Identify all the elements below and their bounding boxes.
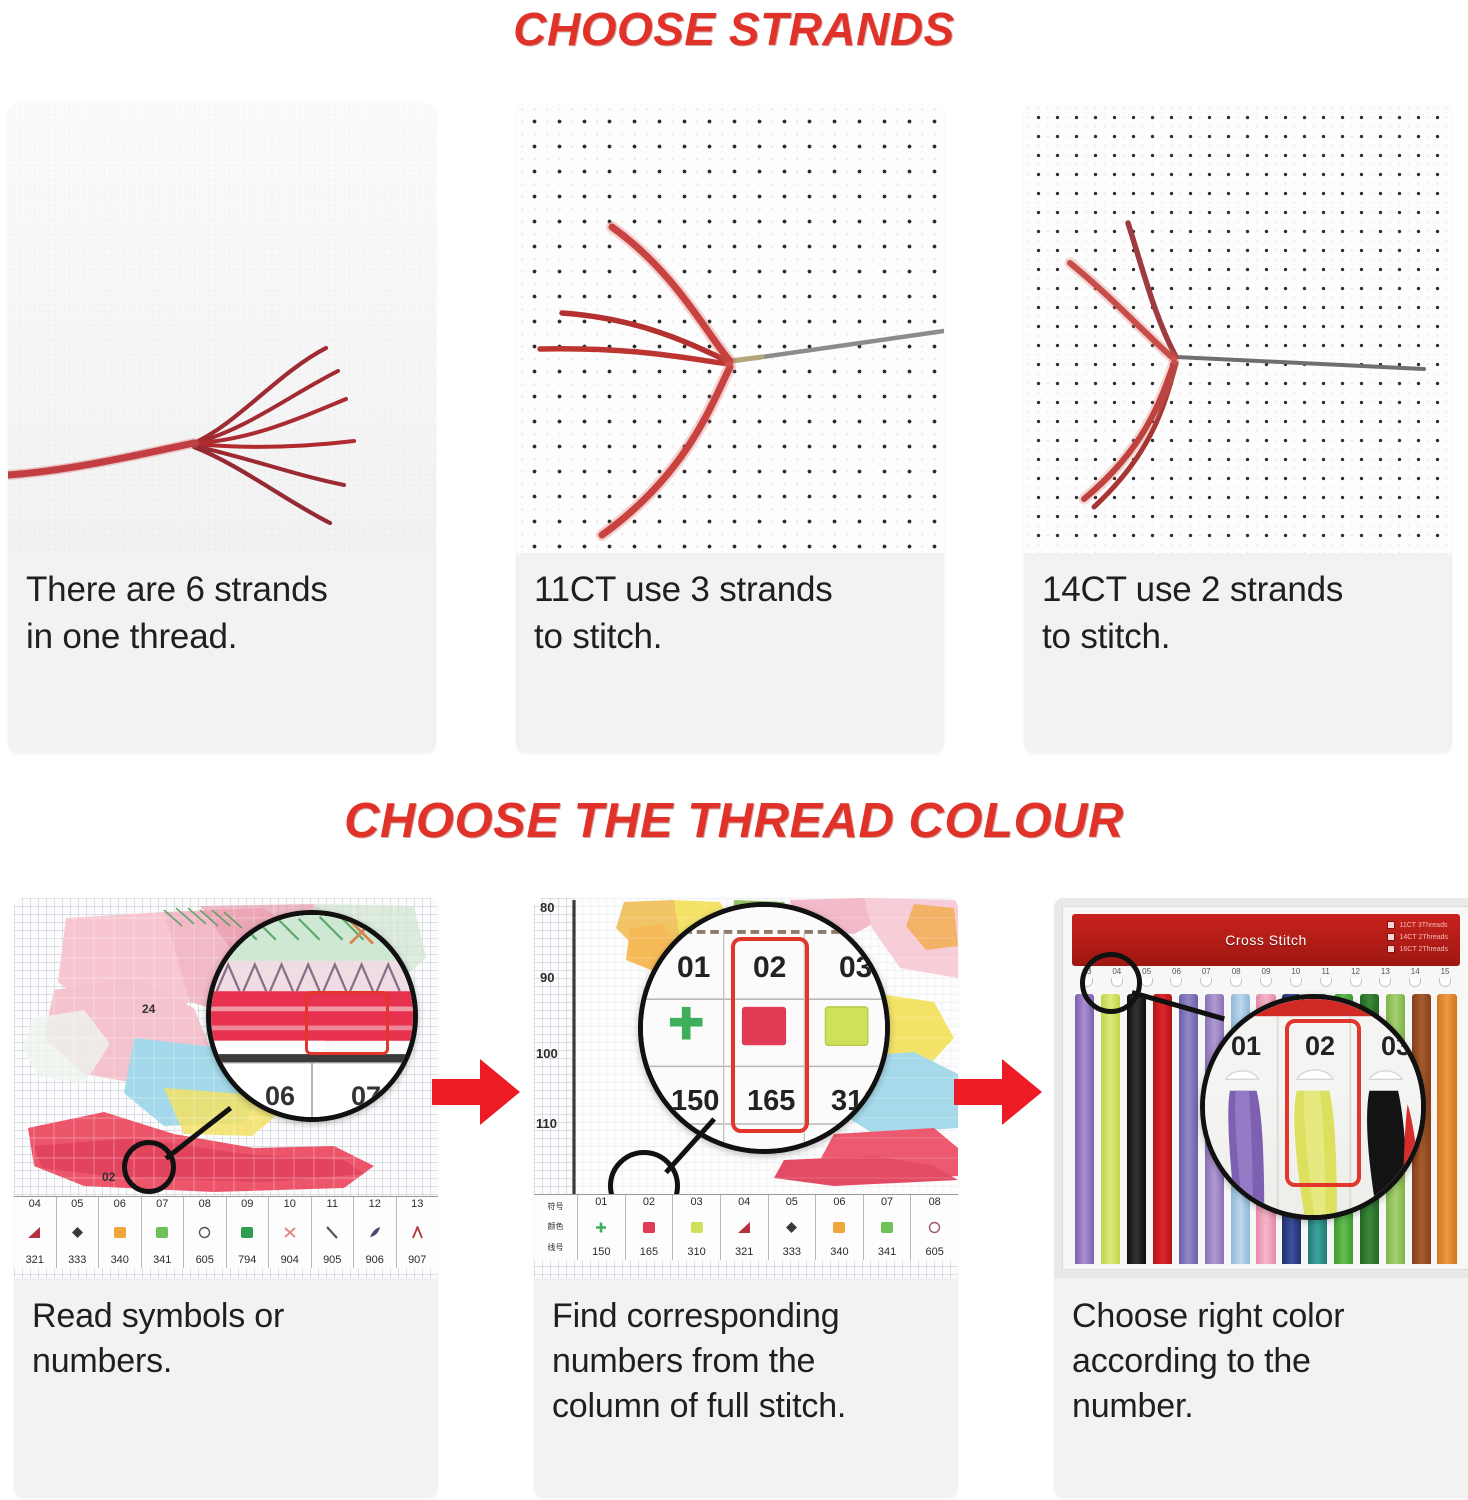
caption-line-3: number. (1072, 1384, 1460, 1429)
legend-symbol-green-cross (593, 1221, 609, 1235)
magnifier-focus-circle (122, 1140, 176, 1194)
legend-number: 12 (369, 1199, 381, 1210)
legend-number: 05 (786, 1197, 798, 1208)
section-title-choose-thread-colour: CHOOSE THE THREAD COLOUR (0, 793, 1468, 849)
card-find-numbers: 80 90 100 110 01 02 (534, 898, 958, 1498)
magnifier-lens-numbers: 01 02 03 150 165 310 (638, 902, 890, 1154)
infographic-page: CHOOSE STRANDS There are 6 (0, 0, 1468, 1500)
organizer-option: 11CT 3Threads (1387, 921, 1448, 929)
legend-number: 08 (199, 1199, 211, 1210)
legend-number: 09 (241, 1199, 253, 1210)
magnifier-lens-threads: 01 02 03 (1200, 994, 1426, 1220)
legend-cell: 09 794 (227, 1197, 270, 1268)
legend-cell: 13 907 (397, 1197, 439, 1268)
legend-symbol-orange-square (831, 1221, 847, 1235)
needle-shaft (1176, 357, 1424, 369)
caption-line-2: in one thread. (26, 614, 418, 661)
caption-find-numbers: Find corresponding numbers from the colu… (534, 1278, 958, 1440)
magnified-thread-number-01: 01 (1231, 1031, 1261, 1062)
legend-number: 07 (881, 1197, 893, 1208)
legend-cell: 10 904 (269, 1197, 312, 1268)
legend-symbol-leaf (367, 1226, 383, 1240)
caption-line-2: numbers. (32, 1339, 420, 1384)
legend-number: 07 (156, 1199, 168, 1210)
photo-14ct-aida (1024, 103, 1452, 553)
legend-symbol-circle (927, 1221, 943, 1235)
peg-number: 07 (1202, 968, 1211, 976)
card-read-symbols: 24 02 (14, 898, 438, 1498)
legend-cell: 12 906 (354, 1197, 397, 1268)
legend-code: 341 (878, 1247, 896, 1258)
legend-code: 150 (592, 1247, 610, 1258)
peg-hole-icon (1379, 978, 1391, 987)
caption-read-symbols: Read symbols or numbers. (14, 1278, 438, 1394)
peg-hole-icon (1439, 978, 1451, 987)
thread-skein (1434, 994, 1460, 1264)
peg-number: 10 (1291, 968, 1300, 976)
caption-line-2: according to the (1072, 1339, 1460, 1384)
legend-symbol-diamond (784, 1221, 800, 1235)
organizer-option-label: 11CT 3Threads (1399, 922, 1447, 929)
peg-hole-icon (1320, 978, 1332, 987)
caption-line-2: to stitch. (534, 614, 926, 661)
peg: 12 (1341, 968, 1371, 994)
magnified-thread-number-03: 03 (1381, 1031, 1411, 1062)
legend-row-label-code: 线号 (548, 1244, 564, 1252)
magnified-label-07: 07 (351, 1081, 381, 1112)
legend-symbol-backslash (324, 1226, 340, 1240)
legend-code: 340 (111, 1255, 129, 1266)
axis-tick-100: 100 (536, 1046, 558, 1061)
legend-number: 06 (114, 1199, 126, 1210)
caption-11ct: 11CT use 3 strands to stitch. (516, 553, 944, 670)
legend-symbol-diamond (69, 1226, 85, 1240)
legend-number: 11 (327, 1199, 338, 1210)
full-stitch-legend-strip: 符号 颜色 线号 01 150 02 165 (534, 1194, 958, 1260)
axis-tick-90: 90 (540, 970, 554, 985)
organizer-option: 14CT 2Threads (1387, 933, 1448, 941)
legend-number: 06 (833, 1197, 845, 1208)
legend-symbol-orange-square (112, 1226, 128, 1240)
axis-tick-80: 80 (540, 900, 554, 915)
legend-code: 906 (366, 1255, 384, 1266)
legend-number: 13 (411, 1199, 423, 1210)
magnified-code-150: 150 (671, 1085, 719, 1118)
magnified-label-06: 06 (265, 1081, 295, 1112)
chart-cell-number-02: 02 (102, 1170, 115, 1184)
caption-line-1: 11CT use 3 strands (534, 567, 926, 614)
legend-symbol-yellow-green-square (689, 1221, 705, 1235)
legend-code: 605 (926, 1247, 944, 1258)
peg-hole-icon (1350, 978, 1362, 987)
right-arrow-icon-2 (952, 1055, 1044, 1129)
card-11ct: 11CT use 3 strands to stitch. (516, 103, 944, 753)
peg-hole-icon (1200, 978, 1212, 987)
legend-code: 321 (735, 1247, 753, 1258)
legend-row-labels: 符号 颜色 线号 (534, 1195, 578, 1260)
legend-number: 03 (690, 1197, 702, 1208)
magnified-number-03: 03 (839, 951, 872, 985)
magnified-thread-number-02: 02 (1305, 1031, 1335, 1062)
checkbox-icon (1387, 945, 1395, 953)
legend-code: 310 (687, 1247, 705, 1258)
peg: 08 (1221, 968, 1251, 994)
legend-number: 01 (595, 1197, 607, 1208)
thread-skein (1098, 994, 1124, 1264)
peg-number: 06 (1172, 968, 1181, 976)
legend-cell: 07 341 (864, 1195, 912, 1260)
organizer-option: 16CT 2Threads (1387, 945, 1448, 953)
magnified-code-310: 310 (831, 1085, 879, 1118)
legend-cell: 07 341 (142, 1197, 185, 1268)
photo-pattern-chart: 24 02 (14, 898, 438, 1278)
photo-thread-organizer: Cross Stitch 11CT 3Threads 14CT 2Threads (1054, 898, 1468, 1278)
legend-cell: 01 150 (578, 1195, 626, 1260)
legend-code: 321 (26, 1255, 44, 1266)
needle-shaft (734, 331, 944, 361)
legend-symbol-green-square (879, 1221, 895, 1235)
peg: 13 (1370, 968, 1400, 994)
thread-skein (1150, 994, 1176, 1264)
thread-skein (1175, 994, 1201, 1264)
magnified-number-02: 02 (753, 951, 786, 985)
peg-number: 12 (1351, 968, 1360, 976)
peg: 11 (1311, 968, 1341, 994)
peg: 09 (1251, 968, 1281, 994)
legend-code: 341 (153, 1255, 171, 1266)
peg-number: 05 (1142, 968, 1151, 976)
section-title-choose-strands: CHOOSE STRANDS (0, 2, 1468, 56)
legend-code: 905 (323, 1255, 341, 1266)
peg-number: 14 (1411, 968, 1420, 976)
thread-two-strands-illustration (1024, 103, 1452, 553)
legend-symbol-circle (197, 1226, 213, 1240)
axis-tick-110: 110 (536, 1116, 557, 1131)
caption-line-1: There are 6 strands (26, 567, 418, 614)
thread-skein (1124, 994, 1150, 1264)
pattern-legend-strip: 04 321 05 333 06 (14, 1196, 438, 1268)
thread-three-strands-illustration (516, 103, 944, 553)
legend-code: 165 (640, 1247, 658, 1258)
legend-number: 02 (643, 1197, 655, 1208)
magnified-number-01: 01 (677, 951, 710, 985)
peg-hole-icon (1141, 978, 1153, 987)
legend-symbol-triangle (736, 1221, 752, 1235)
organizer-option-label: 14CT 2Threads (1399, 934, 1448, 941)
legend-symbol-caret (409, 1226, 425, 1240)
caption-choose-color: Choose right color according to the numb… (1054, 1278, 1468, 1440)
legend-symbol-green-square (154, 1226, 170, 1240)
caption-line-2: to stitch. (1042, 614, 1434, 661)
legend-cell: 05 333 (769, 1195, 817, 1260)
magnifier-lens-symbols: 06 07 (206, 910, 418, 1122)
legend-cell: 06 340 (99, 1197, 142, 1268)
photo-six-strands (8, 103, 436, 553)
peg-hole-icon (1290, 978, 1302, 987)
legend-row-label-color: 颜色 (548, 1223, 564, 1231)
peg: 10 (1281, 968, 1311, 994)
legend-cell: 02 165 (626, 1195, 674, 1260)
caption-line-1: 14CT use 2 strands (1042, 567, 1434, 614)
legend-row-label-symbol: 符号 (548, 1203, 564, 1211)
legend-cell: 03 310 (673, 1195, 721, 1260)
legend-code: 340 (830, 1247, 848, 1258)
legend-symbol-red-square (641, 1221, 657, 1235)
peg: 14 (1400, 968, 1430, 994)
magnified-pattern (211, 915, 413, 1117)
peg: 15 (1430, 968, 1460, 994)
legend-number: 08 (929, 1197, 941, 1208)
caption-line-1: Find corresponding (552, 1294, 940, 1339)
legend-symbol-x-cross (282, 1226, 298, 1240)
legend-number: 04 (738, 1197, 750, 1208)
organizer-option-label: 16CT 2Threads (1399, 946, 1448, 953)
legend-number: 10 (284, 1199, 296, 1210)
legend-code: 333 (68, 1255, 86, 1266)
caption-14ct: 14CT use 2 strands to stitch. (1024, 553, 1452, 670)
peg-hole-icon (1260, 978, 1272, 987)
caption-six-strands: There are 6 strands in one thread. (8, 553, 436, 670)
magnified-code-165: 165 (747, 1085, 795, 1118)
legend-cell: 11 905 (312, 1197, 355, 1268)
photo-full-stitch-column: 80 90 100 110 01 02 (534, 898, 958, 1278)
card-choose-color: Cross Stitch 11CT 3Threads 14CT 2Threads (1054, 898, 1468, 1498)
caption-line-1: Choose right color (1072, 1294, 1460, 1339)
legend-cell: 05 333 (57, 1197, 100, 1268)
peg-number: 13 (1381, 968, 1390, 976)
card-six-strands: There are 6 strands in one thread. (8, 103, 436, 753)
legend-symbol-triangle (27, 1226, 43, 1240)
organizer-options-list: 11CT 3Threads 14CT 2Threads 16CT 2Thread… (1387, 921, 1448, 953)
peg: 06 (1162, 968, 1192, 994)
legend-symbol-dark-green-square (239, 1226, 255, 1240)
photo-11ct-aida (516, 103, 944, 553)
legend-cell: 04 321 (14, 1197, 57, 1268)
peg: 07 (1191, 968, 1221, 994)
magnifier-focus-circle (1080, 952, 1142, 1014)
legend-code: 794 (238, 1255, 256, 1266)
peg-number: 15 (1441, 968, 1450, 976)
legend-number: 05 (71, 1199, 83, 1210)
thread-six-strands-illustration (8, 103, 436, 553)
legend-code: 904 (281, 1255, 299, 1266)
card-14ct: 14CT use 2 strands to stitch. (1024, 103, 1452, 753)
caption-line-1: Read symbols or (32, 1294, 420, 1339)
legend-number: 04 (29, 1199, 41, 1210)
checkbox-icon (1387, 933, 1395, 941)
chart-cell-number-24: 24 (142, 1002, 155, 1016)
peg-number: 11 (1322, 968, 1330, 976)
peg-hole-icon (1409, 978, 1421, 987)
organizer-title: Cross Stitch (1225, 932, 1306, 948)
peg-hole-icon (1230, 978, 1242, 987)
legend-code: 333 (783, 1247, 801, 1258)
caption-line-2: numbers from the (552, 1339, 940, 1384)
peg-hole-icon (1170, 978, 1182, 987)
caption-line-3: column of full stitch. (552, 1384, 940, 1429)
legend-cell: 06 340 (816, 1195, 864, 1260)
peg-number: 09 (1262, 968, 1271, 976)
right-arrow-icon-1 (430, 1055, 522, 1129)
checkbox-icon (1387, 921, 1395, 929)
legend-code: 605 (196, 1255, 214, 1266)
legend-cell: 08 605 (911, 1195, 958, 1260)
legend-cell: 08 605 (184, 1197, 227, 1268)
legend-code: 907 (408, 1255, 426, 1266)
peg-number: 08 (1232, 968, 1241, 976)
thread-skein (1072, 994, 1098, 1264)
legend-cell: 04 321 (721, 1195, 769, 1260)
